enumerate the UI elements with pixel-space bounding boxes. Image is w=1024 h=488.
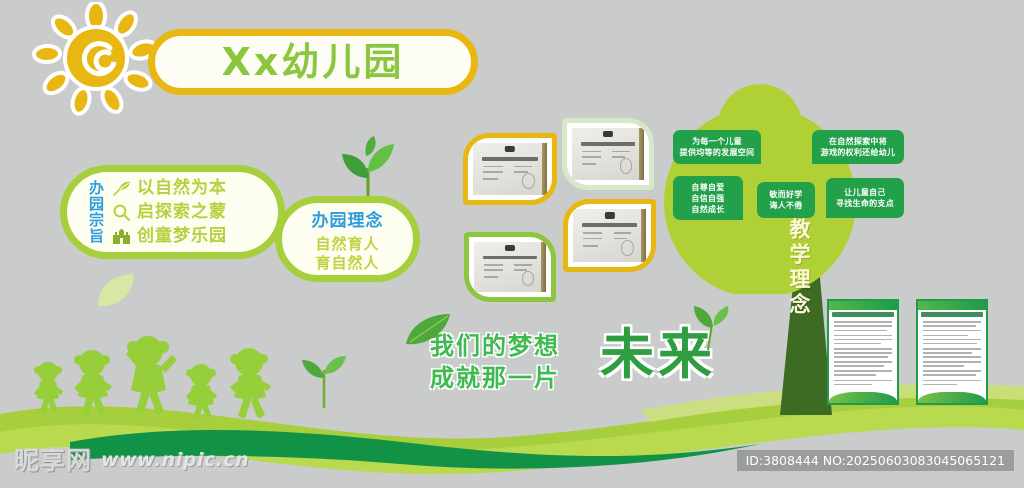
sprout-icon-left — [300, 348, 348, 408]
purpose-item-text: 启探索之蒙 — [137, 204, 227, 221]
idea-line: 自然育人 — [315, 235, 379, 254]
watermark-url: www.nipic.cn — [101, 451, 249, 470]
certificate-photo — [474, 242, 546, 292]
certificate-frame[interactable] — [562, 118, 654, 190]
leaf-decor-slogan-left — [404, 312, 452, 350]
philosophy-bubble[interactable]: 敏而好学 诲人不倦 — [757, 182, 815, 218]
doc-footer-band — [829, 392, 897, 403]
purpose-label: 办园宗旨 — [78, 180, 104, 244]
slogan-line-2: 成就那一片 — [430, 362, 560, 394]
page-title: Xx幼儿园 — [222, 43, 405, 81]
bubble-text: 在自然探索中将 游戏的权利还给幼儿 — [821, 136, 896, 158]
leaf-feather-icon — [112, 179, 131, 198]
document-board[interactable] — [827, 299, 899, 405]
philosophy-bubble[interactable]: 在自然探索中将 游戏的权利还给幼儿 — [812, 130, 904, 164]
magnifier-icon — [112, 203, 131, 222]
idea-line: 育自然人 — [315, 254, 379, 273]
children-silhouettes — [18, 336, 318, 418]
tree-vertical-title: 教学理念 — [782, 218, 814, 318]
certificate-photo — [572, 128, 644, 180]
doc-title-bar — [832, 312, 895, 317]
philosophy-bubble[interactable]: 自尊自爱 自信自强 自然成长 — [673, 176, 743, 220]
bubble-text: 让儿童自己 寻找生命的支点 — [836, 187, 894, 209]
status-badge: ID:3808444 NO:20250603083045065121 — [737, 450, 1014, 471]
doc-header-band — [918, 301, 986, 310]
castle-icon — [112, 227, 131, 246]
leaf-decor-small — [96, 272, 138, 312]
doc-title-bar — [921, 312, 984, 317]
document-board[interactable] — [916, 299, 988, 405]
doc-footer-band — [918, 392, 986, 403]
bubble-text: 自尊自爱 自信自强 自然成长 — [691, 182, 724, 215]
poster-canvas: Xx幼儿园 办园宗旨 以自然为本 — [0, 0, 1024, 488]
bubble-text: 为每一个儿童 提供均等的发展空间 — [680, 136, 755, 158]
school-title-banner: Xx幼儿园 — [148, 29, 478, 95]
purpose-item-2: 启探索之蒙 — [112, 200, 227, 224]
purpose-panel: 办园宗旨 以自然为本 — [60, 165, 285, 259]
watermark: 昵享网 www.nipic.cn — [14, 448, 249, 473]
doc-header-band — [829, 301, 897, 310]
watermark-cn: 昵享网 — [14, 448, 92, 473]
purpose-item-3: 创童梦乐园 — [112, 224, 227, 248]
philosophy-bubble[interactable]: 为每一个儿童 提供均等的发展空间 — [673, 130, 761, 164]
purpose-item-text: 创童梦乐园 — [137, 228, 227, 245]
certificate-frame[interactable] — [463, 133, 557, 205]
certificate-photo — [573, 209, 646, 262]
sun-spiral-icon — [26, 2, 166, 120]
philosophy-bubble[interactable]: 让儿童自己 寻找生命的支点 — [826, 178, 904, 218]
certificate-frame[interactable] — [464, 232, 556, 302]
purpose-list: 以自然为本 启探索之蒙 创童梦乐园 — [112, 176, 227, 248]
purpose-item-1: 以自然为本 — [112, 176, 227, 200]
leaf-decor-slogan-right — [690, 306, 730, 350]
idea-panel: 办园理念 自然育人 育自然人 — [275, 196, 420, 282]
bubble-text: 敏而好学 诲人不倦 — [769, 189, 802, 211]
certificate-frame[interactable] — [563, 199, 656, 272]
certificate-photo — [473, 143, 547, 195]
idea-title: 办园理念 — [312, 206, 384, 231]
purpose-item-text: 以自然为本 — [137, 180, 227, 197]
